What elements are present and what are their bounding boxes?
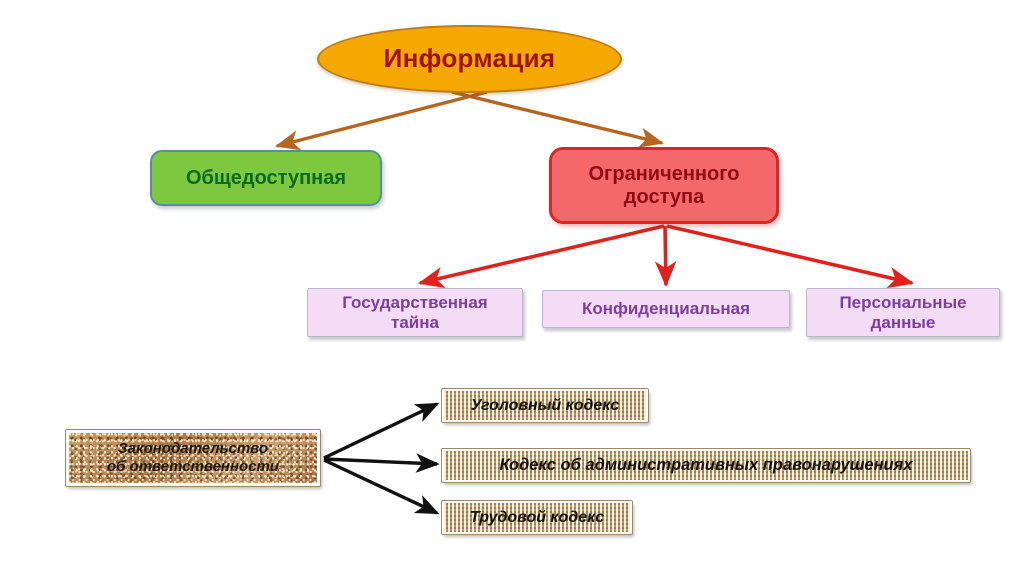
diagram-canvas: Информация Общедоступная Ограниченного д… xyxy=(0,0,1024,573)
arrow-restricted-to-personal-data xyxy=(667,226,912,283)
node-restricted-access-line1: Ограниченного xyxy=(589,163,740,185)
node-public-information[interactable]: Общедоступная xyxy=(150,150,382,206)
node-legislation-liability[interactable]: Законодательство об ответственности xyxy=(66,430,320,486)
node-restricted-access-line2: доступа xyxy=(624,186,704,208)
node-confidential-label: Конфиденциальная xyxy=(543,299,789,318)
arrow-root-to-public xyxy=(277,92,487,146)
node-legislation-liability-label: Законодательство об ответственности xyxy=(69,440,317,475)
node-personal-data-line2: данные xyxy=(871,313,936,332)
node-criminal-code[interactable]: Уголовный кодекс xyxy=(442,389,648,422)
node-confidential[interactable]: Конфиденциальная xyxy=(542,290,790,328)
node-state-secret-label: Государственная тайна xyxy=(308,293,522,331)
arrow-root-to-restricted xyxy=(452,92,662,143)
arrow-law-to-labor-code xyxy=(324,460,437,513)
node-personal-data-label: Персональные данные xyxy=(807,293,999,331)
arrow-restricted-to-confidential xyxy=(665,226,666,285)
node-legislation-liability-line1: Законодательство xyxy=(118,440,268,457)
node-administrative-code[interactable]: Кодекс об административных правонарушени… xyxy=(442,449,970,482)
node-restricted-access[interactable]: Ограниченного доступа xyxy=(549,147,779,224)
node-state-secret-line1: Государственная xyxy=(342,293,487,312)
node-personal-data-line1: Персональные xyxy=(839,293,966,312)
node-administrative-code-label: Кодекс об административных правонарушени… xyxy=(444,456,968,474)
node-restricted-access-label: Ограниченного доступа xyxy=(552,163,776,208)
node-legislation-liability-line2: об ответственности xyxy=(107,458,279,475)
node-information-root[interactable]: Информация xyxy=(317,25,622,93)
arrow-law-to-administrative-code xyxy=(324,459,437,464)
arrow-law-to-criminal-code xyxy=(324,404,437,458)
node-labor-code-label: Трудовой кодекс xyxy=(444,509,630,527)
node-state-secret[interactable]: Государственная тайна xyxy=(307,288,523,337)
node-criminal-code-label: Уголовный кодекс xyxy=(444,397,646,415)
arrow-restricted-to-state-secret xyxy=(420,226,664,283)
node-state-secret-line2: тайна xyxy=(391,313,439,332)
node-labor-code[interactable]: Трудовой кодекс xyxy=(442,501,632,534)
node-information-root-label: Информация xyxy=(319,44,620,73)
node-personal-data[interactable]: Персональные данные xyxy=(806,288,1000,337)
node-public-information-label: Общедоступная xyxy=(152,167,380,189)
